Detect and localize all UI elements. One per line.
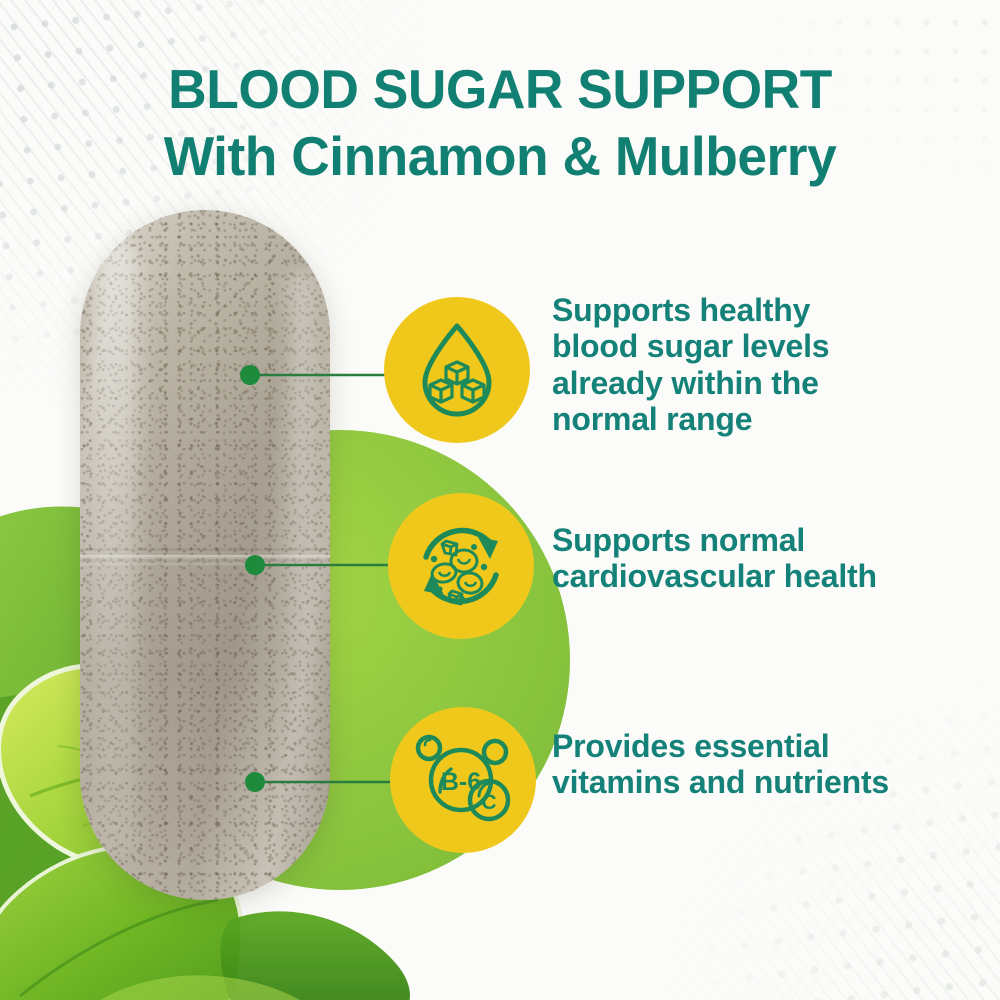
vitamin-bubbles-icon: B-6 C bbox=[407, 724, 519, 836]
droplet-sugar-cubes-icon bbox=[405, 318, 509, 422]
benefit-text-2: Supports normal cardiovascular health bbox=[552, 522, 962, 595]
connector-dot-3 bbox=[245, 772, 265, 792]
connector-dot-1 bbox=[240, 365, 260, 385]
benefit-text-3: Provides essential vitamins and nutrient… bbox=[552, 728, 972, 801]
benefit-icon-badge-2[interactable] bbox=[388, 493, 534, 639]
headline-line-2: With Cinnamon & Mulberry bbox=[15, 129, 985, 184]
connector-dot-2 bbox=[245, 555, 265, 575]
vitamin-c-label: C bbox=[481, 791, 496, 814]
vitamin-b6-label: B-6 bbox=[441, 768, 481, 796]
benefit-icon-badge-1[interactable] bbox=[384, 297, 530, 443]
benefit-text-1: Supports healthy blood sugar levels alre… bbox=[552, 292, 952, 438]
headline-line-1: BLOOD SUGAR SUPPORT bbox=[15, 62, 985, 117]
benefit-icon-badge-3[interactable]: B-6 C bbox=[390, 707, 536, 853]
capsule-highlight-left bbox=[94, 240, 138, 860]
metabolism-cycle-icon bbox=[406, 511, 516, 621]
page-title: BLOOD SUGAR SUPPORT With Cinnamon & Mulb… bbox=[0, 62, 1000, 184]
infographic-canvas: BLOOD SUGAR SUPPORT With Cinnamon & Mulb… bbox=[0, 0, 1000, 1000]
